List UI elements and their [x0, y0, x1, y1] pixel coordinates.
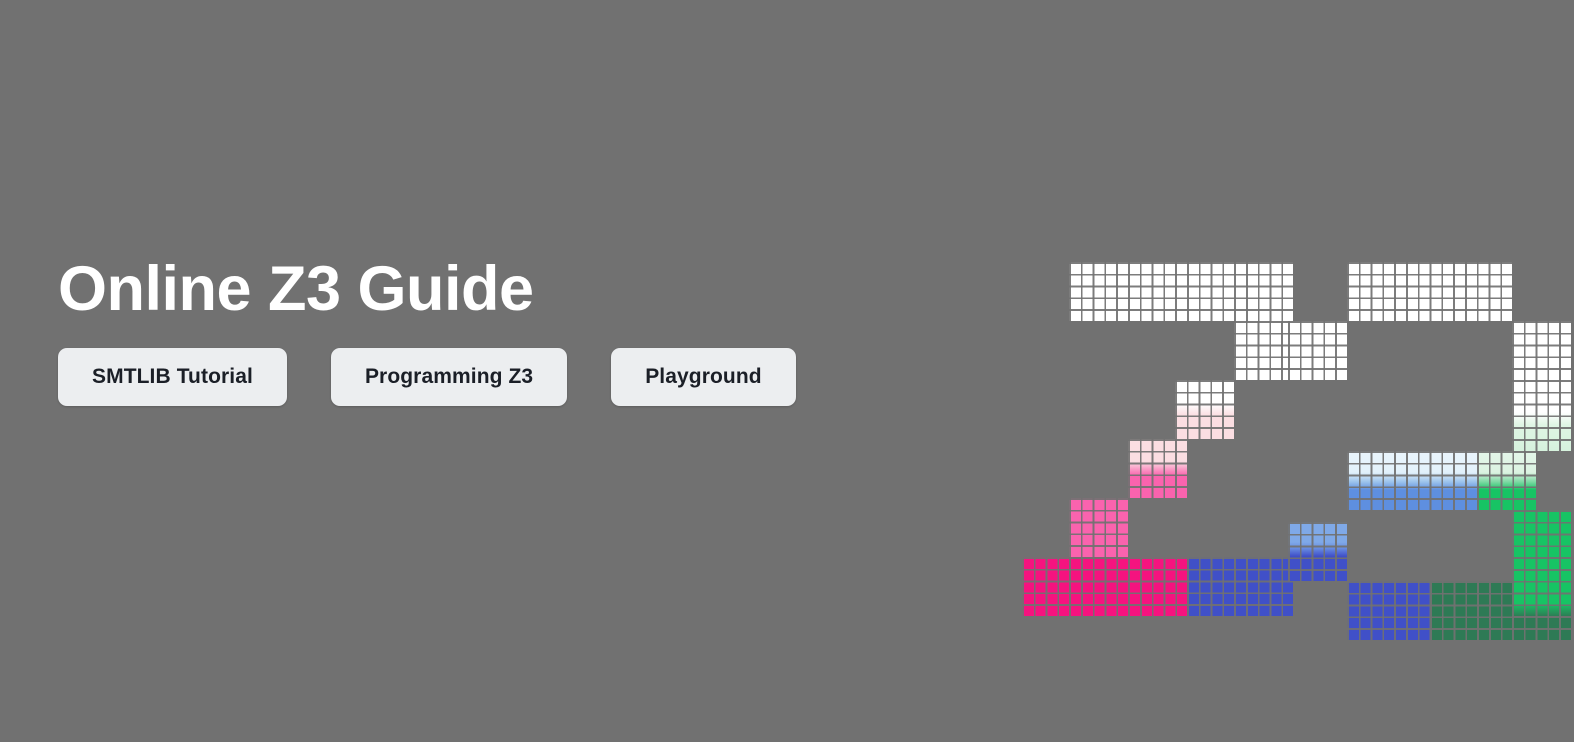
- playground-button[interactable]: Playground: [611, 348, 796, 406]
- cta-button-row: SMTLIB Tutorial Programming Z3 Playgroun…: [58, 348, 796, 406]
- logo-block-three-right-lower: [1512, 510, 1571, 640]
- programming-z3-button[interactable]: Programming Z3: [331, 348, 567, 406]
- logo-block-seven-top-bar: [1069, 262, 1293, 321]
- logo-block-seven-base-blue: [1187, 557, 1293, 616]
- logo-block-three-bottom-green: [1430, 581, 1513, 640]
- logo-block-three-mid-green: [1477, 451, 1536, 510]
- logo-block-seven-neck: [1234, 321, 1293, 380]
- hero-text-column: Online Z3 Guide SMTLIB Tutorial Programm…: [58, 252, 796, 406]
- logo-block-seven-step-1: [1175, 380, 1234, 439]
- logo-block-seven-base-pink: [1022, 557, 1187, 616]
- logo-block-three-upper-left-nub: [1288, 321, 1347, 380]
- page-title: Online Z3 Guide: [58, 252, 796, 326]
- logo-block-three-bottom-blue: [1347, 581, 1430, 640]
- z3-pixel-logo: [1022, 262, 1514, 584]
- logo-block-three-lower-left-nub: [1288, 522, 1347, 581]
- smtlib-tutorial-button[interactable]: SMTLIB Tutorial: [58, 348, 287, 406]
- logo-block-seven-step-3: [1069, 498, 1128, 557]
- logo-block-three-mid-blue: [1347, 451, 1477, 510]
- logo-block-seven-step-2: [1128, 439, 1187, 498]
- hero-section: Online Z3 Guide SMTLIB Tutorial Programm…: [0, 0, 1574, 742]
- logo-block-three-right-upper: [1512, 321, 1571, 451]
- logo-block-three-top-bar: [1347, 262, 1512, 321]
